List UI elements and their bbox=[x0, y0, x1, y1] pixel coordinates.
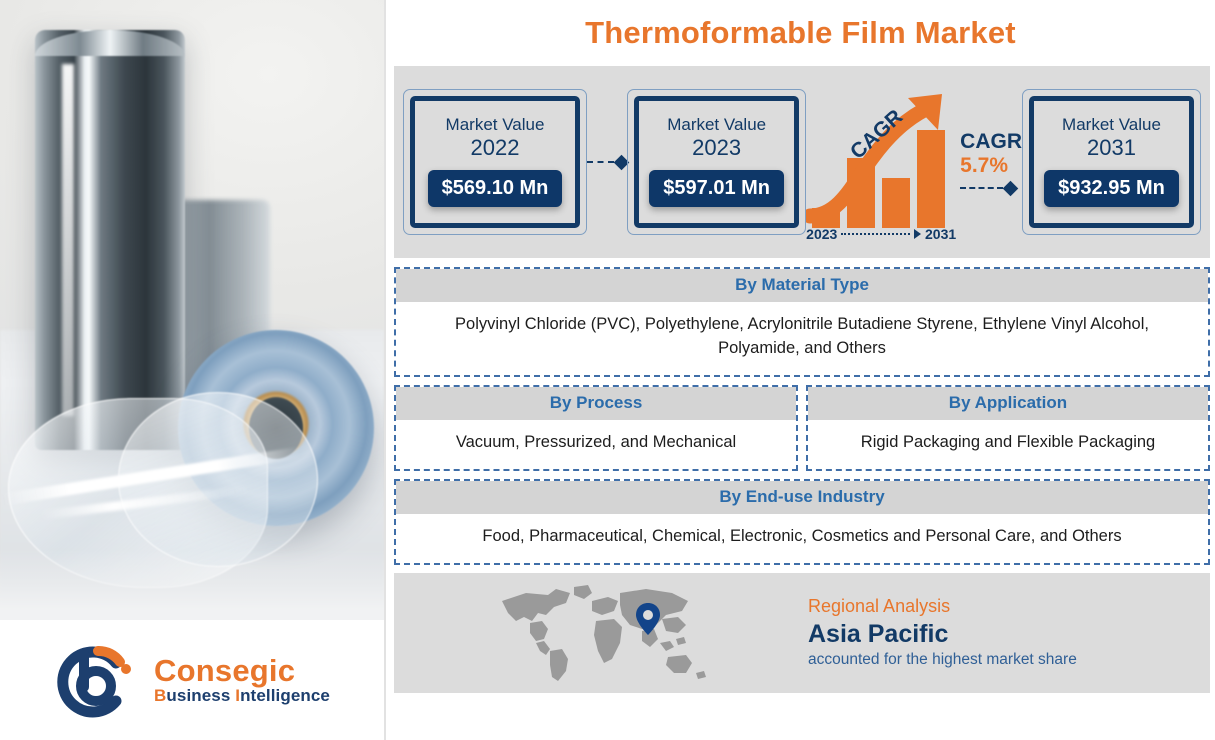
page-title: Thermoformable Film Market bbox=[585, 15, 1016, 51]
right-panel: Thermoformable Film Market Market Value … bbox=[386, 0, 1215, 740]
connector-cagr-2031 bbox=[960, 183, 1016, 194]
segment-process: By Process Vacuum, Pressurized, and Mech… bbox=[394, 385, 798, 471]
cagr-axis-start: 2023 bbox=[806, 226, 837, 242]
cagr-cluster: CAGR 2023 2031 CAGR 5.7% bbox=[806, 66, 1022, 258]
segment-row: By Process Vacuum, Pressurized, and Mech… bbox=[394, 385, 1210, 479]
location-pin-icon bbox=[636, 603, 660, 635]
film-roll-standing bbox=[35, 30, 185, 450]
segmentation-section: By Material Type Polyvinyl Chloride (PVC… bbox=[394, 267, 1210, 565]
card-value-pill: $932.95 Mn bbox=[1044, 170, 1179, 207]
logo-tagline-usiness: usiness bbox=[166, 686, 235, 705]
cagr-readout: CAGR 5.7% bbox=[960, 130, 1022, 193]
segment-application: By Application Rigid Packaging and Flexi… bbox=[806, 385, 1210, 471]
company-logo: Consegic Business Intelligence bbox=[0, 620, 384, 740]
product-photo bbox=[0, 0, 384, 620]
card-label: Market Value bbox=[667, 115, 766, 135]
segment-items: Vacuum, Pressurized, and Mechanical bbox=[396, 420, 796, 469]
regional-note: accounted for the highest market share bbox=[808, 650, 1077, 670]
card-year: 2031 bbox=[1087, 135, 1136, 161]
segment-title: By End-use Industry bbox=[396, 481, 1208, 514]
cagr-axis-line bbox=[841, 233, 910, 235]
world-map-icon bbox=[496, 581, 716, 685]
market-value-card-2022: Market Value 2022 $569.10 Mn bbox=[403, 89, 587, 235]
card-value-pill: $597.01 Mn bbox=[649, 170, 784, 207]
cagr-growth-chart-icon: CAGR 2023 2031 bbox=[806, 86, 956, 238]
card-year: 2023 bbox=[692, 135, 741, 161]
diamond-marker bbox=[1003, 180, 1019, 196]
infographic-page: Consegic Business Intelligence Thermofor… bbox=[0, 0, 1215, 740]
cagr-title: CAGR bbox=[960, 130, 1022, 153]
photo-fade bbox=[0, 550, 384, 620]
regional-text: Regional Analysis Asia Pacific accounted… bbox=[808, 595, 1077, 670]
card-label: Market Value bbox=[446, 115, 545, 135]
segment-items: Rigid Packaging and Flexible Packaging bbox=[808, 420, 1208, 469]
regional-kicker: Regional Analysis bbox=[808, 595, 1077, 618]
dashed-line bbox=[960, 187, 1003, 189]
segment-title: By Application bbox=[808, 387, 1208, 420]
logo-wordmark: Consegic Business Intelligence bbox=[154, 655, 330, 705]
market-value-card-2031: Market Value 2031 $932.95 Mn bbox=[1022, 89, 1201, 235]
segment-items: Polyvinyl Chloride (PVC), Polyethylene, … bbox=[396, 302, 1208, 375]
card-value-pill: $569.10 Mn bbox=[428, 170, 563, 207]
cagr-axis-end: 2031 bbox=[925, 226, 956, 242]
segment-items: Food, Pharmaceutical, Chemical, Electron… bbox=[396, 514, 1208, 563]
segment-title: By Material Type bbox=[396, 269, 1208, 302]
regional-analysis-section: Regional Analysis Asia Pacific accounted… bbox=[394, 573, 1210, 693]
logo-tagline-b: B bbox=[154, 686, 166, 705]
cagr-value: 5.7% bbox=[960, 153, 1008, 178]
connector-2022-2023 bbox=[587, 157, 627, 168]
title-bar: Thermoformable Film Market bbox=[386, 0, 1215, 66]
logo-tagline: Business Intelligence bbox=[154, 687, 330, 705]
market-value-card-2023: Market Value 2023 $597.01 Mn bbox=[627, 89, 806, 235]
card-year: 2022 bbox=[471, 135, 520, 161]
logo-tagline-ntelligence: ntelligence bbox=[240, 686, 330, 705]
logo-name: Consegic bbox=[154, 655, 330, 688]
consegic-logo-icon bbox=[54, 641, 142, 719]
segment-end-use-industry: By End-use Industry Food, Pharmaceutical… bbox=[394, 479, 1210, 565]
market-value-strip: Market Value 2022 $569.10 Mn Market Valu… bbox=[394, 66, 1210, 258]
segment-material-type: By Material Type Polyvinyl Chloride (PVC… bbox=[394, 267, 1210, 377]
segment-title: By Process bbox=[396, 387, 796, 420]
regional-region-name: Asia Pacific bbox=[808, 618, 1077, 651]
dashed-line bbox=[587, 161, 614, 163]
card-label: Market Value bbox=[1062, 115, 1161, 135]
left-panel: Consegic Business Intelligence bbox=[0, 0, 386, 740]
cagr-axis-arrowhead bbox=[914, 229, 921, 239]
